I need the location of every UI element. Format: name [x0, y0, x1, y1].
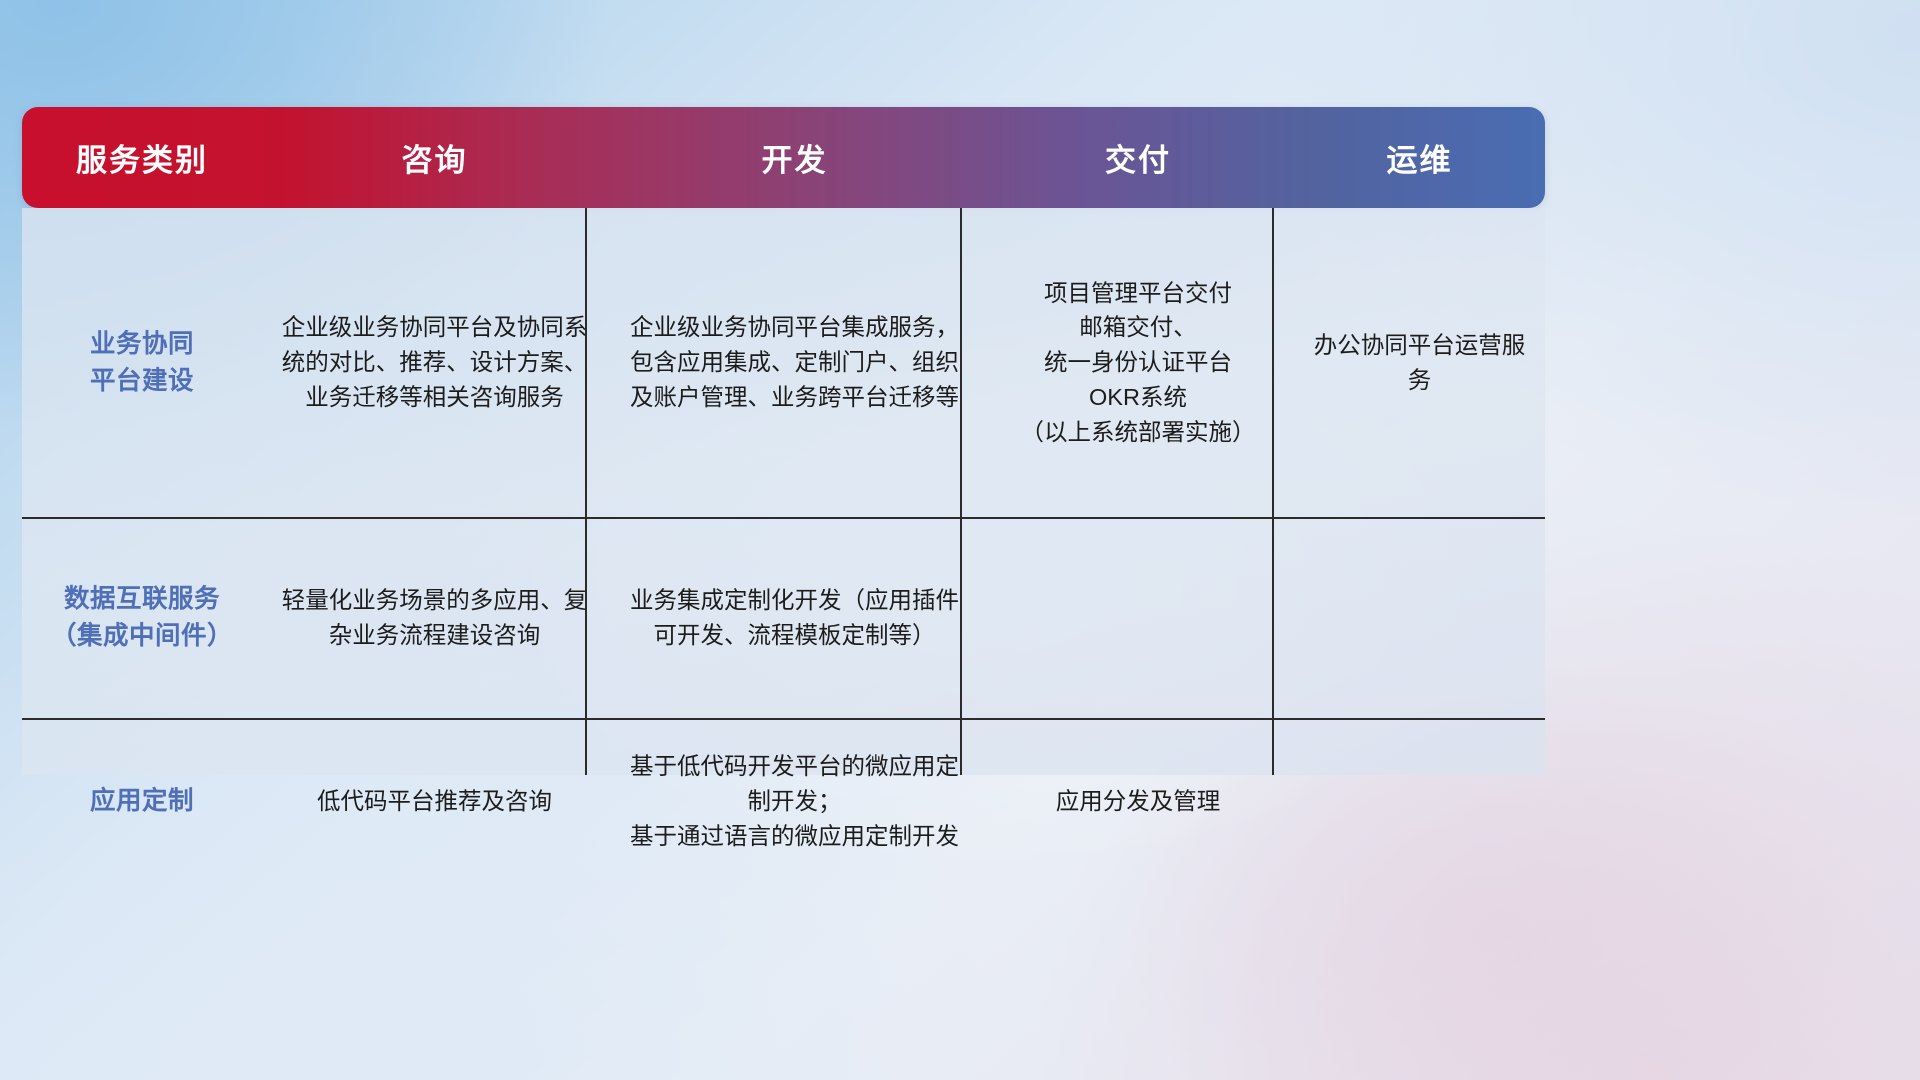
cell-delivery-row-1: 项目管理平台交付 邮箱交付、 统一身份认证平台 OKR系统 （以上系统部署实施） [982, 208, 1294, 517]
row-label-application-customization: 应用定制 [22, 718, 262, 885]
table-row: 数据互联服务 （集成中间件） 轻量化业务场景的多应用、复 杂业务流程建设咨询 业… [22, 517, 1545, 718]
column-header-category: 服务类别 [22, 135, 262, 180]
row-divider-2 [22, 718, 1545, 720]
cell-consulting-row-3: 低代码平台推荐及咨询 [262, 718, 607, 885]
service-matrix-table: 服务类别 咨询 开发 交付 运维 业务协同 平台建设 企业级业务协同平台及协同系… [22, 107, 1545, 775]
table-row: 应用定制 低代码平台推荐及咨询 基于低代码开发平台的微应用定 制开发； 基于通过… [22, 718, 1545, 885]
column-header-development: 开发 [607, 135, 982, 180]
column-divider-delivery-operations [1272, 208, 1274, 775]
row-label-business-collaboration: 业务协同 平台建设 [22, 208, 262, 517]
cell-delivery-row-2 [982, 517, 1294, 718]
cell-operations-row-3 [1294, 718, 1545, 885]
row-divider-1 [22, 517, 1545, 519]
table-row: 业务协同 平台建设 企业级业务协同平台及协同系 统的对比、推荐、设计方案、 业务… [22, 208, 1545, 517]
row-label-data-integration: 数据互联服务 （集成中间件） [22, 517, 262, 718]
column-divider-development-delivery [960, 208, 962, 775]
column-header-consulting: 咨询 [262, 135, 607, 180]
cell-operations-row-2 [1294, 517, 1545, 718]
column-header-delivery: 交付 [982, 135, 1294, 180]
column-divider-consulting-development [585, 208, 587, 775]
table-body: 业务协同 平台建设 企业级业务协同平台及协同系 统的对比、推荐、设计方案、 业务… [22, 208, 1545, 775]
cell-delivery-row-3: 应用分发及管理 [982, 718, 1294, 885]
column-header-operations: 运维 [1294, 135, 1545, 180]
cell-consulting-row-2: 轻量化业务场景的多应用、复 杂业务流程建设咨询 [262, 517, 607, 718]
cell-development-row-1: 企业级业务协同平台集成服务， 包含应用集成、定制门户、组织 及账户管理、业务跨平… [607, 208, 982, 517]
cell-consulting-row-1: 企业级业务协同平台及协同系 统的对比、推荐、设计方案、 业务迁移等相关咨询服务 [262, 208, 607, 517]
cell-development-row-3: 基于低代码开发平台的微应用定 制开发； 基于通过语言的微应用定制开发 [607, 718, 982, 885]
cell-development-row-2: 业务集成定制化开发（应用插件 可开发、流程模板定制等） [607, 517, 982, 718]
table-header-row: 服务类别 咨询 开发 交付 运维 [22, 107, 1545, 208]
cell-operations-row-1: 办公协同平台运营服务 [1294, 208, 1545, 517]
